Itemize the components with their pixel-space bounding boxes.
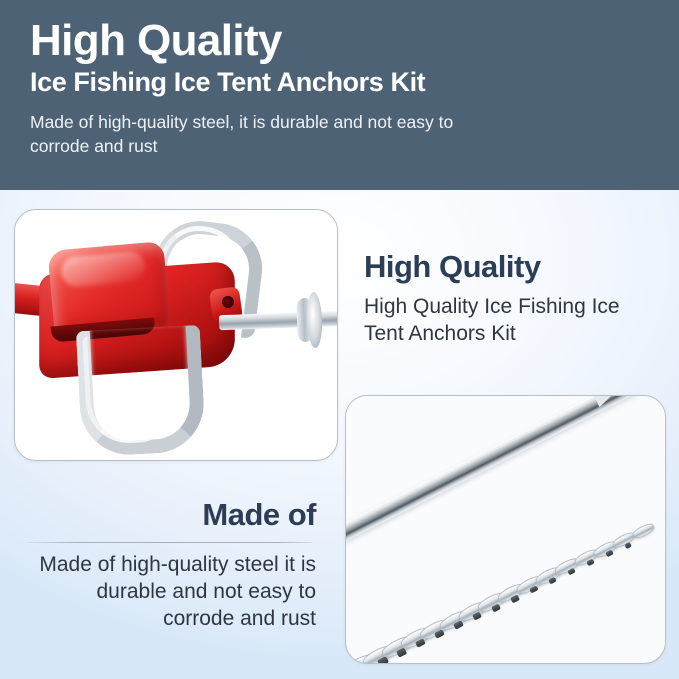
auger-thread-gap bbox=[453, 621, 463, 630]
header-title: High Quality bbox=[30, 18, 653, 64]
header-banner: High Quality Ice Fishing Ice Tent Anchor… bbox=[0, 0, 679, 190]
screw-anchor-photo-card bbox=[345, 395, 666, 664]
feature-divider-rule bbox=[26, 542, 312, 543]
auger-thread-gap bbox=[605, 550, 613, 557]
feature-body-high-quality: High Quality Ice Fishing Ice Tent Anchor… bbox=[364, 293, 664, 348]
feature-body-made-of: Made of high-quality steel it is durable… bbox=[26, 551, 316, 633]
auger-thread-gap bbox=[567, 568, 576, 576]
anchor-clamp-photo-card bbox=[14, 209, 338, 461]
auger-thread-gap bbox=[472, 612, 482, 621]
anchor-clamp-image bbox=[15, 210, 337, 460]
header-description: Made of high-quality steel, it is durabl… bbox=[30, 110, 500, 158]
auger-shaft-shape bbox=[346, 396, 638, 542]
header-subtitle: Ice Fishing Ice Tent Anchors Kit bbox=[30, 68, 653, 98]
auger-tip-shape bbox=[591, 396, 624, 407]
auger-thread-gap bbox=[586, 559, 594, 566]
feature-heading-high-quality: High Quality bbox=[364, 250, 664, 285]
feature-heading-made-of: Made of bbox=[26, 498, 316, 533]
lug-hole-shape bbox=[222, 296, 234, 308]
product-infographic: High Quality Ice Fishing Ice Tent Anchor… bbox=[0, 0, 679, 679]
auger-flight bbox=[630, 521, 655, 540]
feature-block-made-of: Made of Made of high-quality steel it is… bbox=[26, 498, 316, 633]
lower-shackle-highlight bbox=[82, 332, 182, 446]
screw-anchor-image bbox=[346, 396, 665, 663]
feature-block-high-quality: High Quality High Quality Ice Fishing Ic… bbox=[364, 250, 664, 347]
